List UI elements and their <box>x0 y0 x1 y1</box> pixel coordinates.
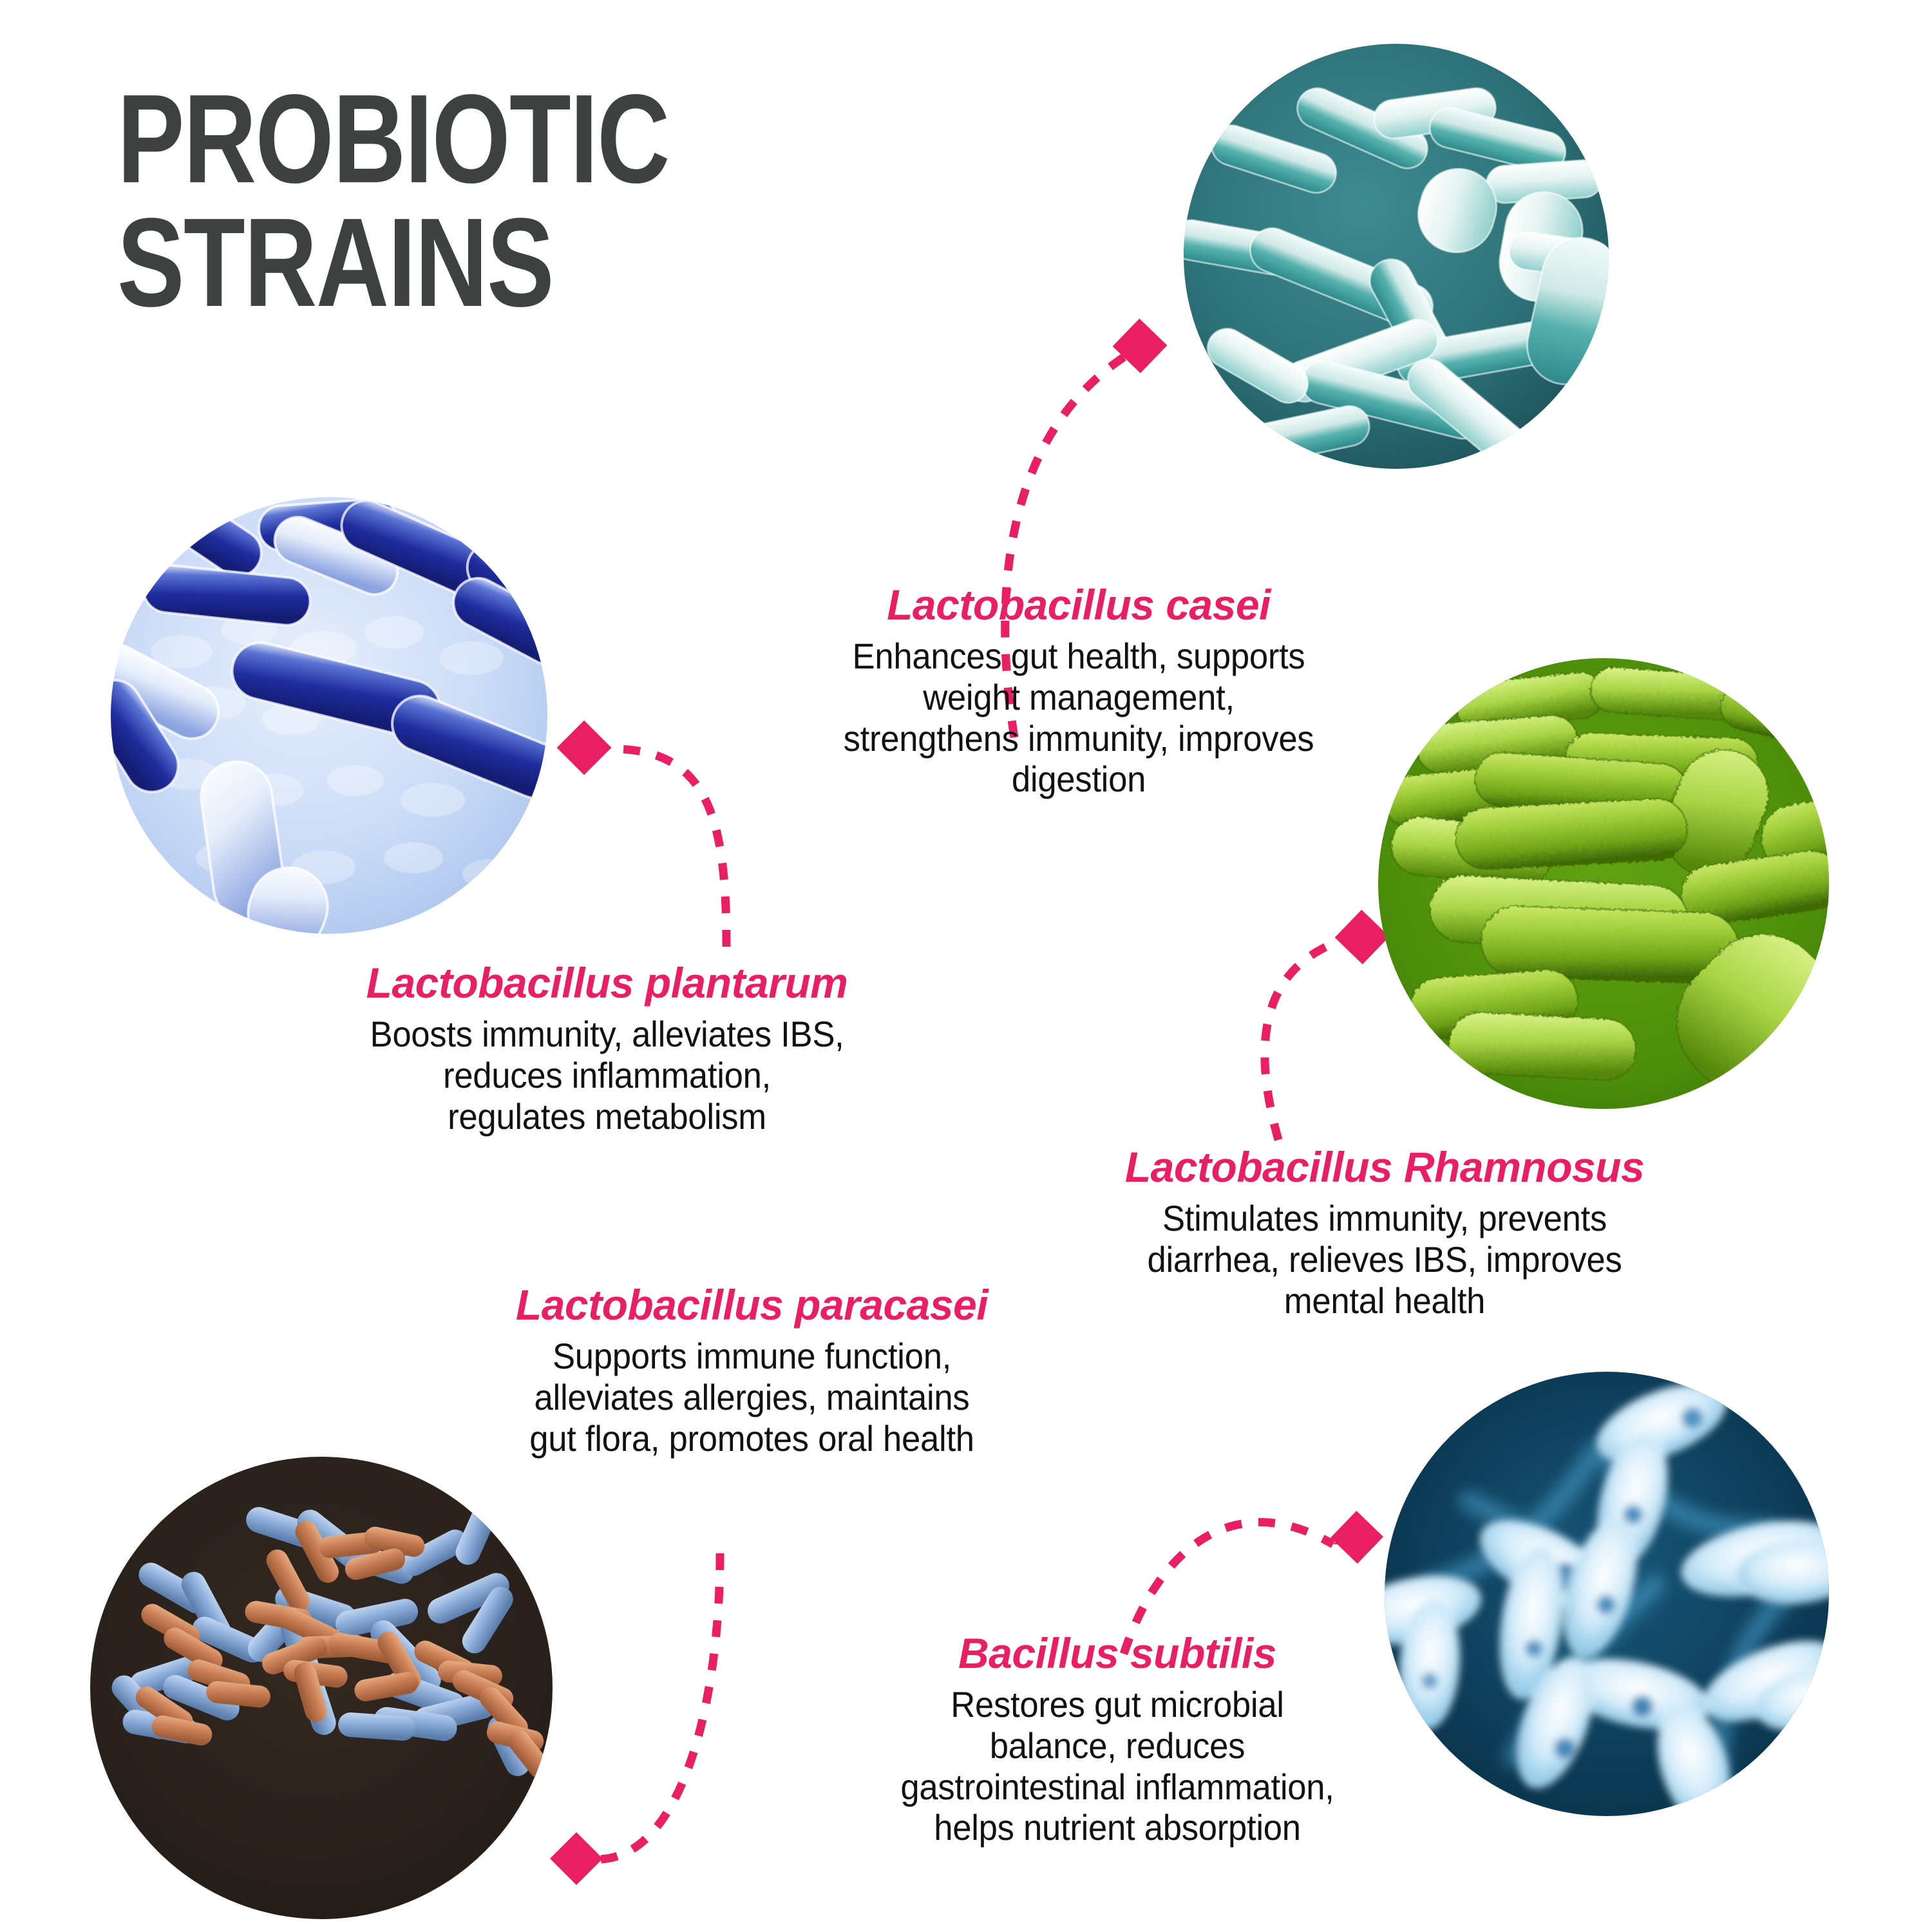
lactobacillus-paracasei-circle <box>90 1457 553 1919</box>
cyan-glow-bacteria-micrograph <box>1385 1372 1829 1816</box>
lactobacillus-plantarum-heading: Lactobacillus plantarum <box>293 961 921 1006</box>
description-line: strengthens immunity, improves <box>776 718 1381 759</box>
description-line: regulates metabolism <box>312 1096 902 1137</box>
dark-field-blue-orange-bacteria-micrograph <box>90 1457 553 1919</box>
lactobacillus-casei-text: Lactobacillus casei Enhances gut health,… <box>757 583 1401 800</box>
description-line: reduces inflammation, <box>312 1055 902 1096</box>
lactobacillus-plantarum-text: Lactobacillus plantarum Boosts immunity,… <box>293 961 921 1137</box>
lactobacillus-casei-description: Enhances gut health, supports weight man… <box>776 636 1381 800</box>
infographic-canvas: PROBIOTIC STRAINS .dash { fill:none; str… <box>0 0 1932 1932</box>
description-line: gut flora, promotes oral health <box>469 1418 1035 1459</box>
lactobacillus-paracasei-description: Supports immune function, alleviates all… <box>469 1336 1035 1459</box>
description-line: helps nutrient absorption <box>848 1807 1387 1848</box>
blue-rod-bacteria-micrograph <box>111 497 547 934</box>
description-line: balance, reduces <box>848 1725 1387 1766</box>
lactobacillus-rhamnosus-description: Stimulates immunity, prevents diarrhea, … <box>1079 1198 1690 1321</box>
description-line: weight management, <box>776 677 1381 718</box>
description-line: gastrointestinal inflammation, <box>848 1766 1387 1808</box>
bacillus-subtilis-text: Bacillus subtilis Restores gut microbial… <box>831 1631 1404 1848</box>
description-line: Supports immune function, <box>469 1336 1035 1377</box>
description-line: diarrhea, relieves IBS, improves <box>1079 1239 1690 1280</box>
page-title: PROBIOTIC STRAINS <box>117 77 632 325</box>
description-line: digestion <box>776 759 1381 800</box>
description-line: Boosts immunity, alleviates IBS, <box>312 1014 902 1055</box>
description-line: Restores gut microbial <box>848 1684 1387 1725</box>
connector-to-rhamnosus-circle <box>1265 910 1390 1140</box>
green-rod-bacteria-micrograph <box>1378 658 1829 1109</box>
teal-rod-bacteria-micrograph <box>1184 44 1609 469</box>
lactobacillus-rhamnosus-text: Lactobacillus Rhamnosus Stimulates immun… <box>1059 1145 1710 1321</box>
description-line: mental health <box>1079 1280 1690 1321</box>
lactobacillus-casei-circle <box>1184 44 1609 469</box>
bacillus-subtilis-heading: Bacillus subtilis <box>831 1631 1404 1676</box>
lactobacillus-rhamnosus-circle <box>1378 658 1829 1109</box>
lactobacillus-paracasei-text: Lactobacillus paracasei Supports immune … <box>451 1283 1053 1459</box>
lactobacillus-plantarum-circle <box>111 497 547 934</box>
lactobacillus-casei-heading: Lactobacillus casei <box>757 583 1401 628</box>
connector-to-plantarum-circle <box>557 721 726 947</box>
description-line: Stimulates immunity, prevents <box>1079 1198 1690 1239</box>
lactobacillus-paracasei-heading: Lactobacillus paracasei <box>451 1283 1053 1328</box>
lactobacillus-rhamnosus-heading: Lactobacillus Rhamnosus <box>1059 1145 1710 1190</box>
description-line: Enhances gut health, supports <box>776 636 1381 677</box>
bacillus-subtilis-circle <box>1385 1372 1829 1816</box>
description-line: alleviates allergies, maintains <box>469 1377 1035 1418</box>
connector-to-paracasei-circle <box>550 1553 720 1885</box>
bacillus-subtilis-description: Restores gut microbial balance, reduces … <box>848 1684 1387 1848</box>
lactobacillus-plantarum-description: Boosts immunity, alleviates IBS, reduces… <box>312 1014 902 1137</box>
